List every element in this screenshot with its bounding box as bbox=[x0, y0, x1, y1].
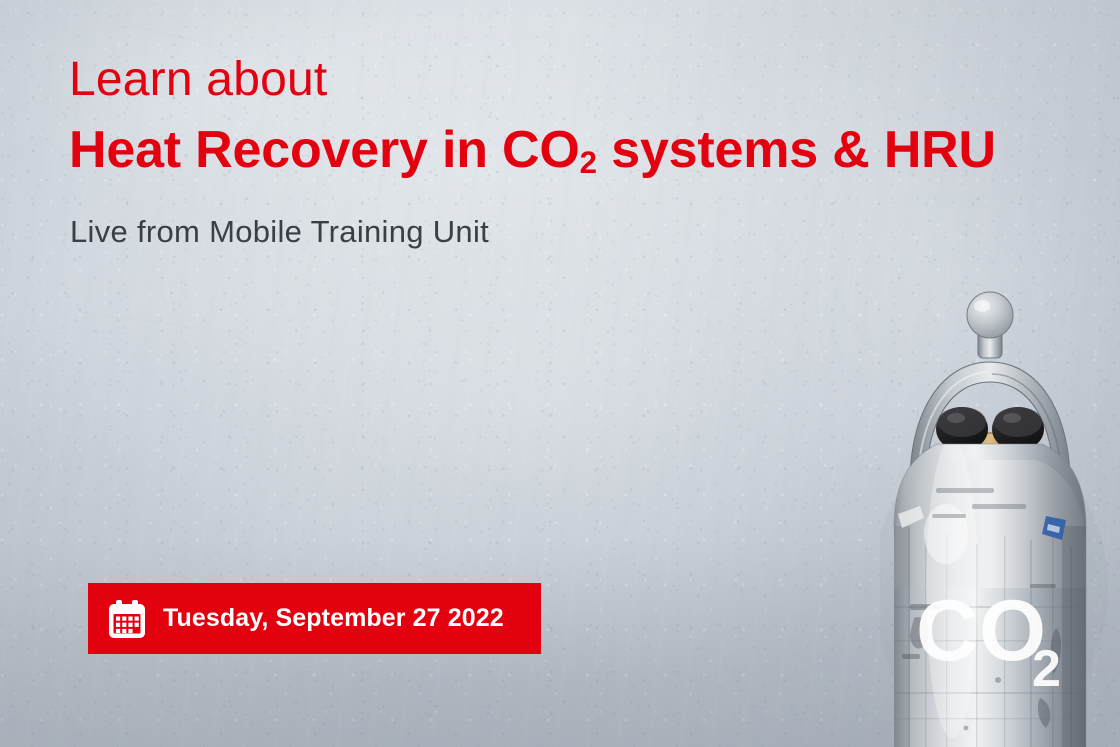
cylinder-top-knob bbox=[967, 292, 1013, 338]
title-part-after-subscript: systems & HRU bbox=[597, 121, 996, 179]
event-date-text: Tuesday, September 27 2022 bbox=[163, 604, 504, 633]
title-subscript: 2 bbox=[580, 145, 597, 180]
cylinder-body: CO 2 bbox=[894, 438, 1086, 747]
co2-cylinder-image: CO 2 bbox=[880, 288, 1120, 747]
svg-text:CO: CO bbox=[916, 583, 1047, 679]
calendar-icon bbox=[107, 599, 147, 639]
title-part-before-subscript: Heat Recovery in CO bbox=[69, 121, 580, 179]
event-date-banner[interactable]: Tuesday, September 27 2022 bbox=[88, 583, 541, 654]
page-subtitle: Live from Mobile Training Unit bbox=[70, 216, 489, 247]
svg-text:2: 2 bbox=[1032, 640, 1061, 698]
co2-cylinder-illustration: CO 2 bbox=[880, 288, 1120, 747]
training-promo-banner: CO 2 Learn about Heat Recovery in CO2 sy… bbox=[0, 0, 1120, 747]
page-title: Heat Recovery in CO2 systems & HRU bbox=[69, 124, 996, 176]
eyebrow-text: Learn about bbox=[69, 56, 327, 104]
